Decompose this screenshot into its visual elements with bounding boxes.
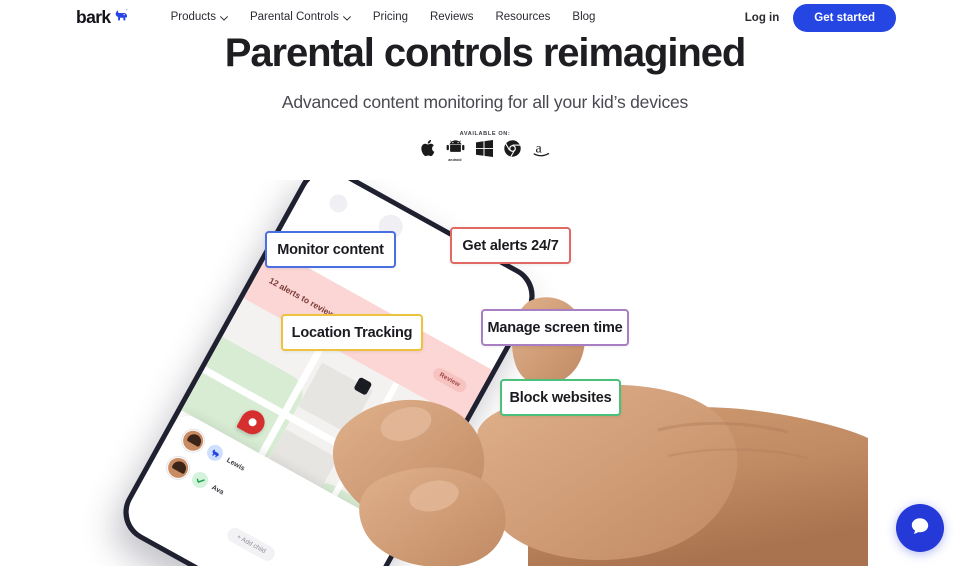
callout-monitor-content-label: Monitor content	[277, 242, 384, 258]
android-label: android	[448, 158, 461, 162]
nav-item-pricing[interactable]: Pricing	[362, 8, 419, 28]
kid-name: Ava	[211, 484, 225, 496]
nav-item-parental-controls-label: Parental Controls	[250, 12, 339, 24]
platform-windows	[476, 140, 493, 162]
chrome-icon	[504, 140, 521, 162]
callout-manage-screen-time-label: Manage screen time	[487, 320, 622, 336]
callout-get-alerts-label: Get alerts 24/7	[462, 238, 558, 254]
platform-amazon: a	[532, 140, 551, 162]
available-on-label: AVAILABLE ON:	[460, 131, 511, 137]
nav-item-resources[interactable]: Resources	[484, 8, 561, 28]
nav-item-pricing-label: Pricing	[373, 12, 408, 24]
callout-get-alerts: Get alerts 24/7	[450, 227, 571, 264]
dog-icon	[114, 8, 128, 26]
amazon-icon: a	[532, 140, 551, 162]
hero-subtitle: Advanced content monitoring for all your…	[0, 92, 970, 113]
platform-icon-list: android	[420, 140, 551, 162]
callout-manage-screen-time: Manage screen time	[481, 309, 629, 346]
apple-icon	[420, 139, 435, 162]
chat-bubble-icon	[908, 514, 932, 543]
available-on-section: AVAILABLE ON:	[0, 131, 970, 162]
page-title: Parental controls reimagined	[0, 32, 970, 75]
avatar	[178, 426, 208, 456]
callout-location-tracking-label: Location Tracking	[292, 325, 413, 341]
brand-logo-text: bark	[76, 9, 111, 27]
chevron-down-icon	[343, 13, 351, 25]
nav-item-reviews-label: Reviews	[430, 12, 473, 24]
platform-android: android	[446, 140, 465, 162]
nav-item-reviews[interactable]: Reviews	[419, 8, 484, 28]
brand-logo[interactable]: bark	[76, 8, 128, 29]
main-navbar: bark Products Parental Controls	[0, 0, 970, 36]
login-link[interactable]: Log in	[745, 12, 780, 24]
callout-block-websites-label: Block websites	[510, 390, 612, 406]
windows-icon	[476, 140, 493, 162]
nav-actions: Log in Get started	[745, 4, 896, 32]
android-icon	[446, 140, 465, 158]
chevron-down-icon	[220, 13, 228, 25]
dog-badge-icon	[204, 442, 226, 464]
callout-monitor-content: Monitor content	[265, 231, 396, 268]
get-started-button[interactable]: Get started	[793, 4, 896, 32]
svg-text:a: a	[535, 142, 542, 157]
nav-item-resources-label: Resources	[495, 12, 550, 24]
nav-item-blog-label: Blog	[572, 12, 595, 24]
nav-item-products[interactable]: Products	[160, 8, 239, 29]
nav-links: Products Parental Controls Pricing Revie…	[160, 8, 607, 29]
nav-item-blog[interactable]: Blog	[561, 8, 606, 28]
chat-widget-button[interactable]	[896, 504, 944, 552]
avatar	[163, 453, 193, 483]
nav-item-products-label: Products	[171, 12, 216, 24]
platform-chrome	[504, 140, 521, 162]
nav-item-parental-controls[interactable]: Parental Controls	[239, 8, 362, 29]
landing-page: bark Products Parental Controls	[0, 0, 970, 566]
check-badge-icon	[189, 469, 211, 491]
platform-apple	[420, 140, 435, 162]
callout-block-websites: Block websites	[500, 379, 621, 416]
callout-location-tracking: Location Tracking	[281, 314, 423, 351]
